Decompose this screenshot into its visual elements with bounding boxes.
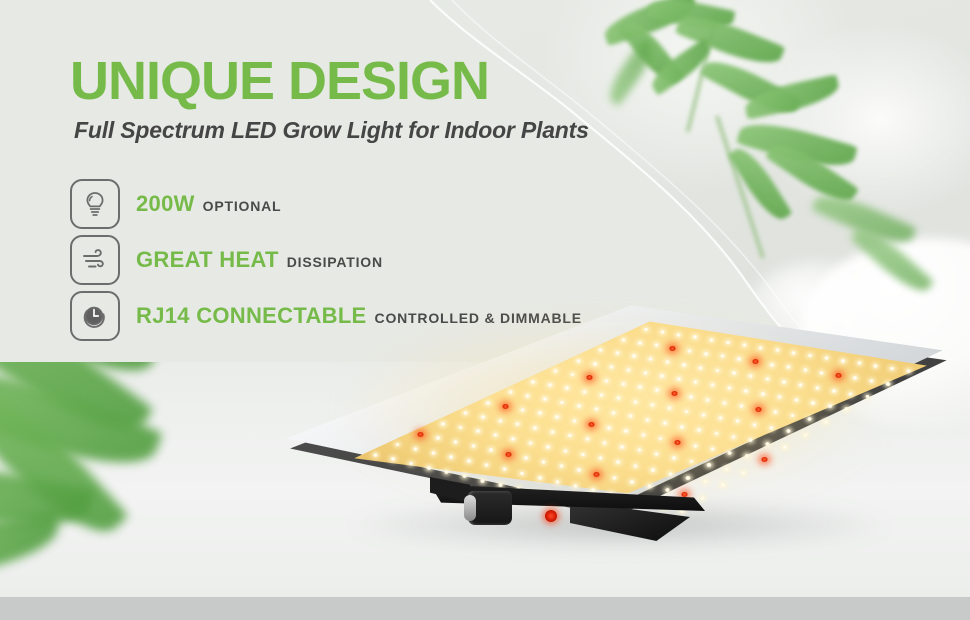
white-led-dot [885,382,890,386]
white-led-dot [718,416,723,420]
white-led-dot [724,467,729,471]
white-led-dot [765,442,770,446]
white-led-dot [448,455,453,459]
white-led-dot [645,418,650,422]
red-led-dot [502,404,509,409]
white-led-dot [650,468,655,472]
white-led-dot [547,383,552,387]
white-led-dot [865,395,870,399]
red-led-dot [674,440,681,445]
white-led-dot [824,356,829,360]
white-led-dot [794,398,799,402]
white-led-dot [848,392,853,396]
white-led-dot [693,444,698,448]
white-led-dot [510,437,515,441]
white-led-dot [662,421,667,425]
white-led-dot [676,333,681,337]
white-led-dot [671,456,676,460]
white-led-dot [435,436,440,440]
white-led-dot [679,425,684,429]
white-led-dot [485,401,490,405]
timer-icon [70,291,120,341]
white-led-dot [631,354,636,358]
white-led-dot [567,434,572,438]
feature-detail: OPTIONAL [203,198,282,214]
white-led-dot [629,480,634,484]
white-led-dot [602,441,607,445]
power-indicator-led [545,510,557,522]
white-led-dot [471,444,476,448]
white-led-dot [520,408,525,412]
white-led-dot [744,454,749,458]
white-led-dot [782,445,787,449]
white-led-dot [621,338,626,342]
white-led-dot [769,426,774,430]
white-led-dot [760,392,765,396]
white-led-dot [709,338,714,342]
white-led-dot [537,476,542,480]
feature-detail: DISSIPATION [287,254,383,270]
feature-item-heat: GREAT HEAT DISSIPATION [70,232,582,288]
white-led-dot [626,368,631,372]
white-led-dot [660,330,665,334]
white-led-dot [563,449,568,453]
white-led-dot [637,341,642,345]
white-led-dot [643,371,648,375]
white-led-dot [431,451,436,455]
white-led-dot [555,480,560,484]
white-led-dot [532,426,537,430]
white-led-dot [840,359,845,363]
white-led-dot [703,480,708,484]
white-led-dot [650,403,655,407]
white-led-dot [807,417,812,421]
white-led-dot [576,468,581,472]
white-led-dot [743,389,748,393]
white-led-dot [480,479,485,483]
white-led-dot [530,380,535,384]
white-led-dot [523,456,528,460]
white-led-dot [621,382,626,386]
white-led-dot [803,368,808,372]
white-led-dot [852,376,857,380]
white-led-dot [641,433,646,437]
white-led-dot [736,357,741,361]
white-led-dot [710,383,715,387]
white-led-dot [440,422,445,426]
page-title: UNIQUE DESIGN [70,54,489,108]
white-led-dot [665,488,670,492]
page-subtitle: Full Spectrum LED Grow Light for Indoor … [74,117,589,144]
white-led-dot [769,363,774,367]
white-led-dot [731,435,736,439]
feature-highlight: 200W [136,191,195,217]
white-led-dot [701,413,706,417]
white-led-dot [696,428,701,432]
white-led-dot [498,483,503,487]
white-led-dot [643,328,648,332]
white-led-dot [590,488,595,492]
dimmer-knob[interactable] [468,491,512,525]
white-led-dot [545,445,550,449]
led-grow-light-panel [270,295,970,570]
lightbulb-icon [70,179,120,229]
feature-item-wattage: 200W OPTIONAL [70,176,582,232]
white-led-dot [637,385,642,389]
white-led-dot [559,464,564,468]
white-led-dot [373,453,378,457]
white-led-dot [585,437,590,441]
white-led-dot [659,374,664,378]
white-led-dot [844,407,849,411]
white-led-dot [580,453,585,457]
white-led-dot [727,386,732,390]
white-led-dot [687,349,692,353]
red-led-dot [505,452,512,457]
red-led-dot [417,432,424,437]
white-led-dot [831,389,836,393]
white-led-dot [758,346,763,350]
white-led-dot [823,420,828,424]
white-led-dot [528,441,533,445]
white-led-dot [390,457,395,461]
white-led-dot [572,419,577,423]
white-led-dot [706,463,711,467]
white-led-dot [619,445,624,449]
white-led-dot [667,406,672,410]
white-led-dot [466,459,471,463]
red-led-dot [669,346,676,351]
red-led-dot [761,457,768,462]
white-led-dot [791,351,796,355]
white-led-dot [413,447,418,451]
red-led-dot [835,373,842,378]
white-led-dot [606,426,611,430]
red-led-dot [755,407,762,412]
white-led-dot [611,411,616,415]
white-led-dot [781,380,786,384]
white-led-dot [676,377,681,381]
white-led-dot [807,354,812,358]
feature-highlight: GREAT HEAT [136,247,279,273]
white-led-dot [742,343,747,347]
white-led-dot [665,360,670,364]
white-led-dot [688,395,693,399]
white-led-dot [685,476,690,480]
white-led-dot [480,415,485,419]
white-led-dot [604,379,609,383]
white-led-dot [582,390,587,394]
white-led-dot [725,341,730,345]
white-led-dot [803,433,808,437]
white-led-dot [698,366,703,370]
white-led-dot [576,359,581,363]
red-led-dot [671,391,678,396]
white-led-dot [488,448,493,452]
white-led-dot [681,363,686,367]
white-led-dot [815,386,820,390]
product-banner: UNIQUE DESIGN Full Spectrum LED Grow Lig… [0,0,970,620]
white-led-dot [668,472,673,476]
white-led-dot [573,484,578,488]
white-led-dot [752,423,757,427]
white-led-dot [615,460,620,464]
white-led-dot [525,394,530,398]
white-led-dot [498,419,503,423]
white-led-dot [542,397,547,401]
white-led-dot [703,352,708,356]
white-led-dot [550,430,555,434]
white-led-dot [554,415,559,419]
white-led-dot [612,476,617,480]
footer-bar [0,597,970,620]
white-led-dot [475,429,480,433]
red-led-dot [593,472,600,477]
white-led-dot [720,483,725,487]
airflow-icon [70,235,120,285]
white-led-dot [599,393,604,397]
white-led-dot [827,404,832,408]
white-led-dot [869,379,874,383]
white-led-dot [426,466,431,470]
red-led-dot [588,422,595,427]
red-led-dot [681,492,688,497]
white-led-dot [741,471,746,475]
white-led-dot [810,401,815,405]
white-led-dot [576,404,581,408]
white-led-dot [633,400,638,404]
white-led-dot [592,362,597,366]
